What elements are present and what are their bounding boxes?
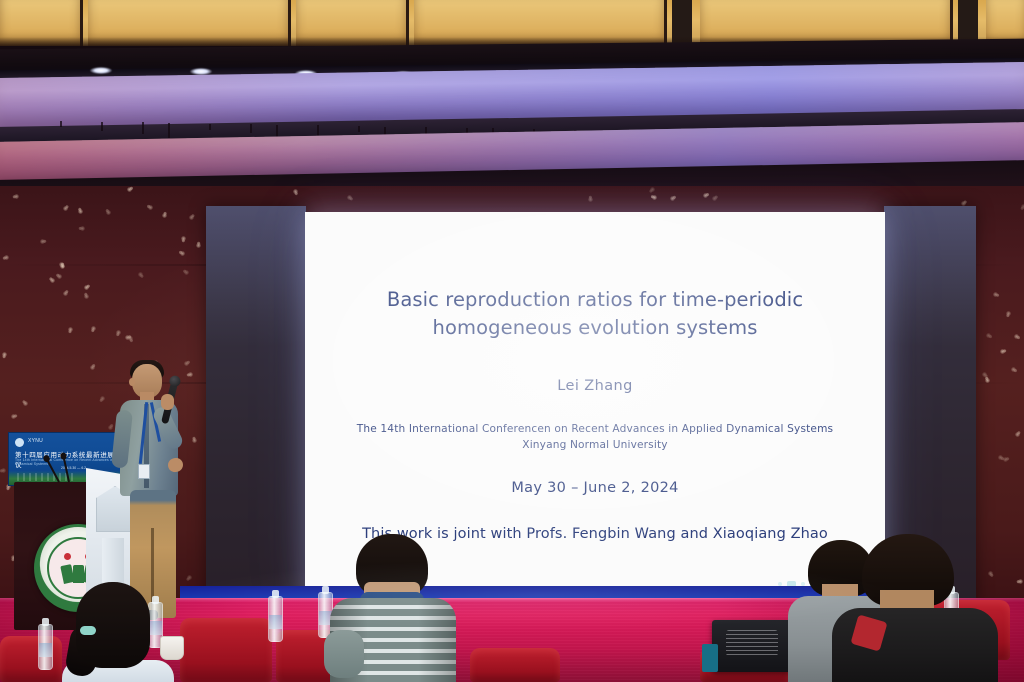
ceiling-rod xyxy=(60,121,62,127)
wall-floral-motif xyxy=(993,291,999,297)
speaker-right-hand xyxy=(161,394,174,410)
conference-host: Xinyang Normal University xyxy=(357,438,833,453)
ceiling-bay xyxy=(0,0,83,46)
water-bottle xyxy=(268,596,283,642)
slide-author: Lei Zhang xyxy=(557,378,632,394)
chair xyxy=(470,648,560,682)
ceiling-rod xyxy=(209,124,211,130)
wall-floral-motif xyxy=(180,251,185,256)
banner-logo-text: XYNU xyxy=(28,438,43,444)
wall-floral-motif xyxy=(986,333,991,338)
water-bottle xyxy=(38,624,53,670)
slide-title: Basic reproduction ratios for time-perio… xyxy=(387,286,803,341)
conference-photo-scene: Basic reproduction ratios for time-perio… xyxy=(0,0,1024,682)
conference-name: The 14th International Conferencen on Re… xyxy=(357,422,833,437)
ceiling-rod xyxy=(101,122,103,131)
wall-floral-motif xyxy=(57,273,63,279)
slide-title-line-2: homogeneous evolution systems xyxy=(387,314,803,342)
wall-floral-motif xyxy=(148,205,153,210)
ceiling-rod xyxy=(168,123,170,138)
ceiling-rod xyxy=(358,126,360,132)
chair xyxy=(180,618,272,682)
slide-content: Basic reproduction ratios for time-perio… xyxy=(305,212,885,586)
audience-member-far-right-black-shirt xyxy=(840,534,990,682)
ceiling-bay xyxy=(296,0,409,46)
ceiling-bay xyxy=(414,0,667,46)
podium-microphones-icon xyxy=(58,456,98,486)
ceiling-rod xyxy=(142,122,144,134)
wall-floral-motif xyxy=(1014,334,1019,339)
slide-conference-info: The 14th International Conferencen on Re… xyxy=(357,422,833,453)
speaker-name-badge xyxy=(138,464,150,479)
audience-member-center-striped-polo xyxy=(330,534,456,682)
ceiling-bay xyxy=(88,0,291,46)
screen-surround-panel-left xyxy=(206,206,306,606)
wall-floral-motif xyxy=(1011,367,1016,372)
ceiling-rod xyxy=(276,125,278,137)
wall-floral-motif xyxy=(1020,204,1024,210)
slide-title-line-1: Basic reproduction ratios for time-perio… xyxy=(387,286,803,314)
audience-member-front-left-ponytail xyxy=(62,582,174,682)
banner-university-logo-icon xyxy=(15,438,24,447)
speaker-ear xyxy=(129,378,135,386)
ceiling-gold-panels xyxy=(0,0,1024,46)
slide-date: May 30 – June 2, 2024 xyxy=(511,480,678,496)
ceiling-rod xyxy=(250,124,252,133)
black-laptop-bag xyxy=(712,620,792,672)
ceiling-gap xyxy=(672,0,692,46)
wall-floral-motif xyxy=(346,195,352,201)
